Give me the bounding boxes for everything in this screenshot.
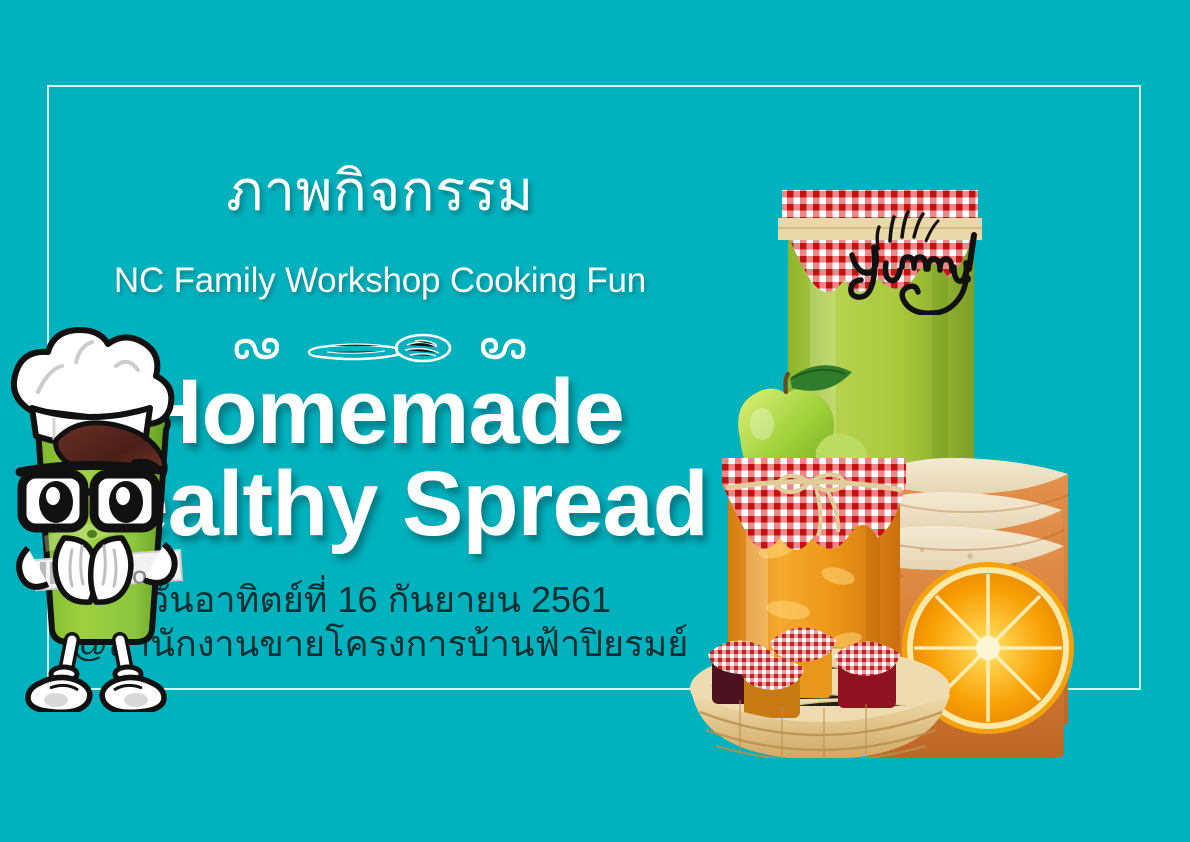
mini-jam-jar	[834, 641, 900, 708]
flourish-swirl-right-icon	[477, 334, 529, 362]
spoon-icon	[305, 331, 455, 365]
mascot-nose	[87, 530, 97, 538]
yummy-rays-icon	[877, 212, 938, 249]
mascot-legs	[28, 640, 164, 712]
mascot-chef-character: NC GROUP	[0, 322, 224, 712]
yummy-text-icon	[851, 235, 974, 313]
flourish-swirl-left-icon	[231, 334, 283, 362]
subheading: NC Family Workshop Cooking Fun	[0, 261, 760, 301]
thai-heading: ภาพกิจกรรม	[0, 160, 760, 222]
yummy-sticker	[838, 205, 988, 315]
poster-canvas: NC GROUP	[0, 0, 1190, 842]
mini-jam-jar	[740, 656, 804, 718]
